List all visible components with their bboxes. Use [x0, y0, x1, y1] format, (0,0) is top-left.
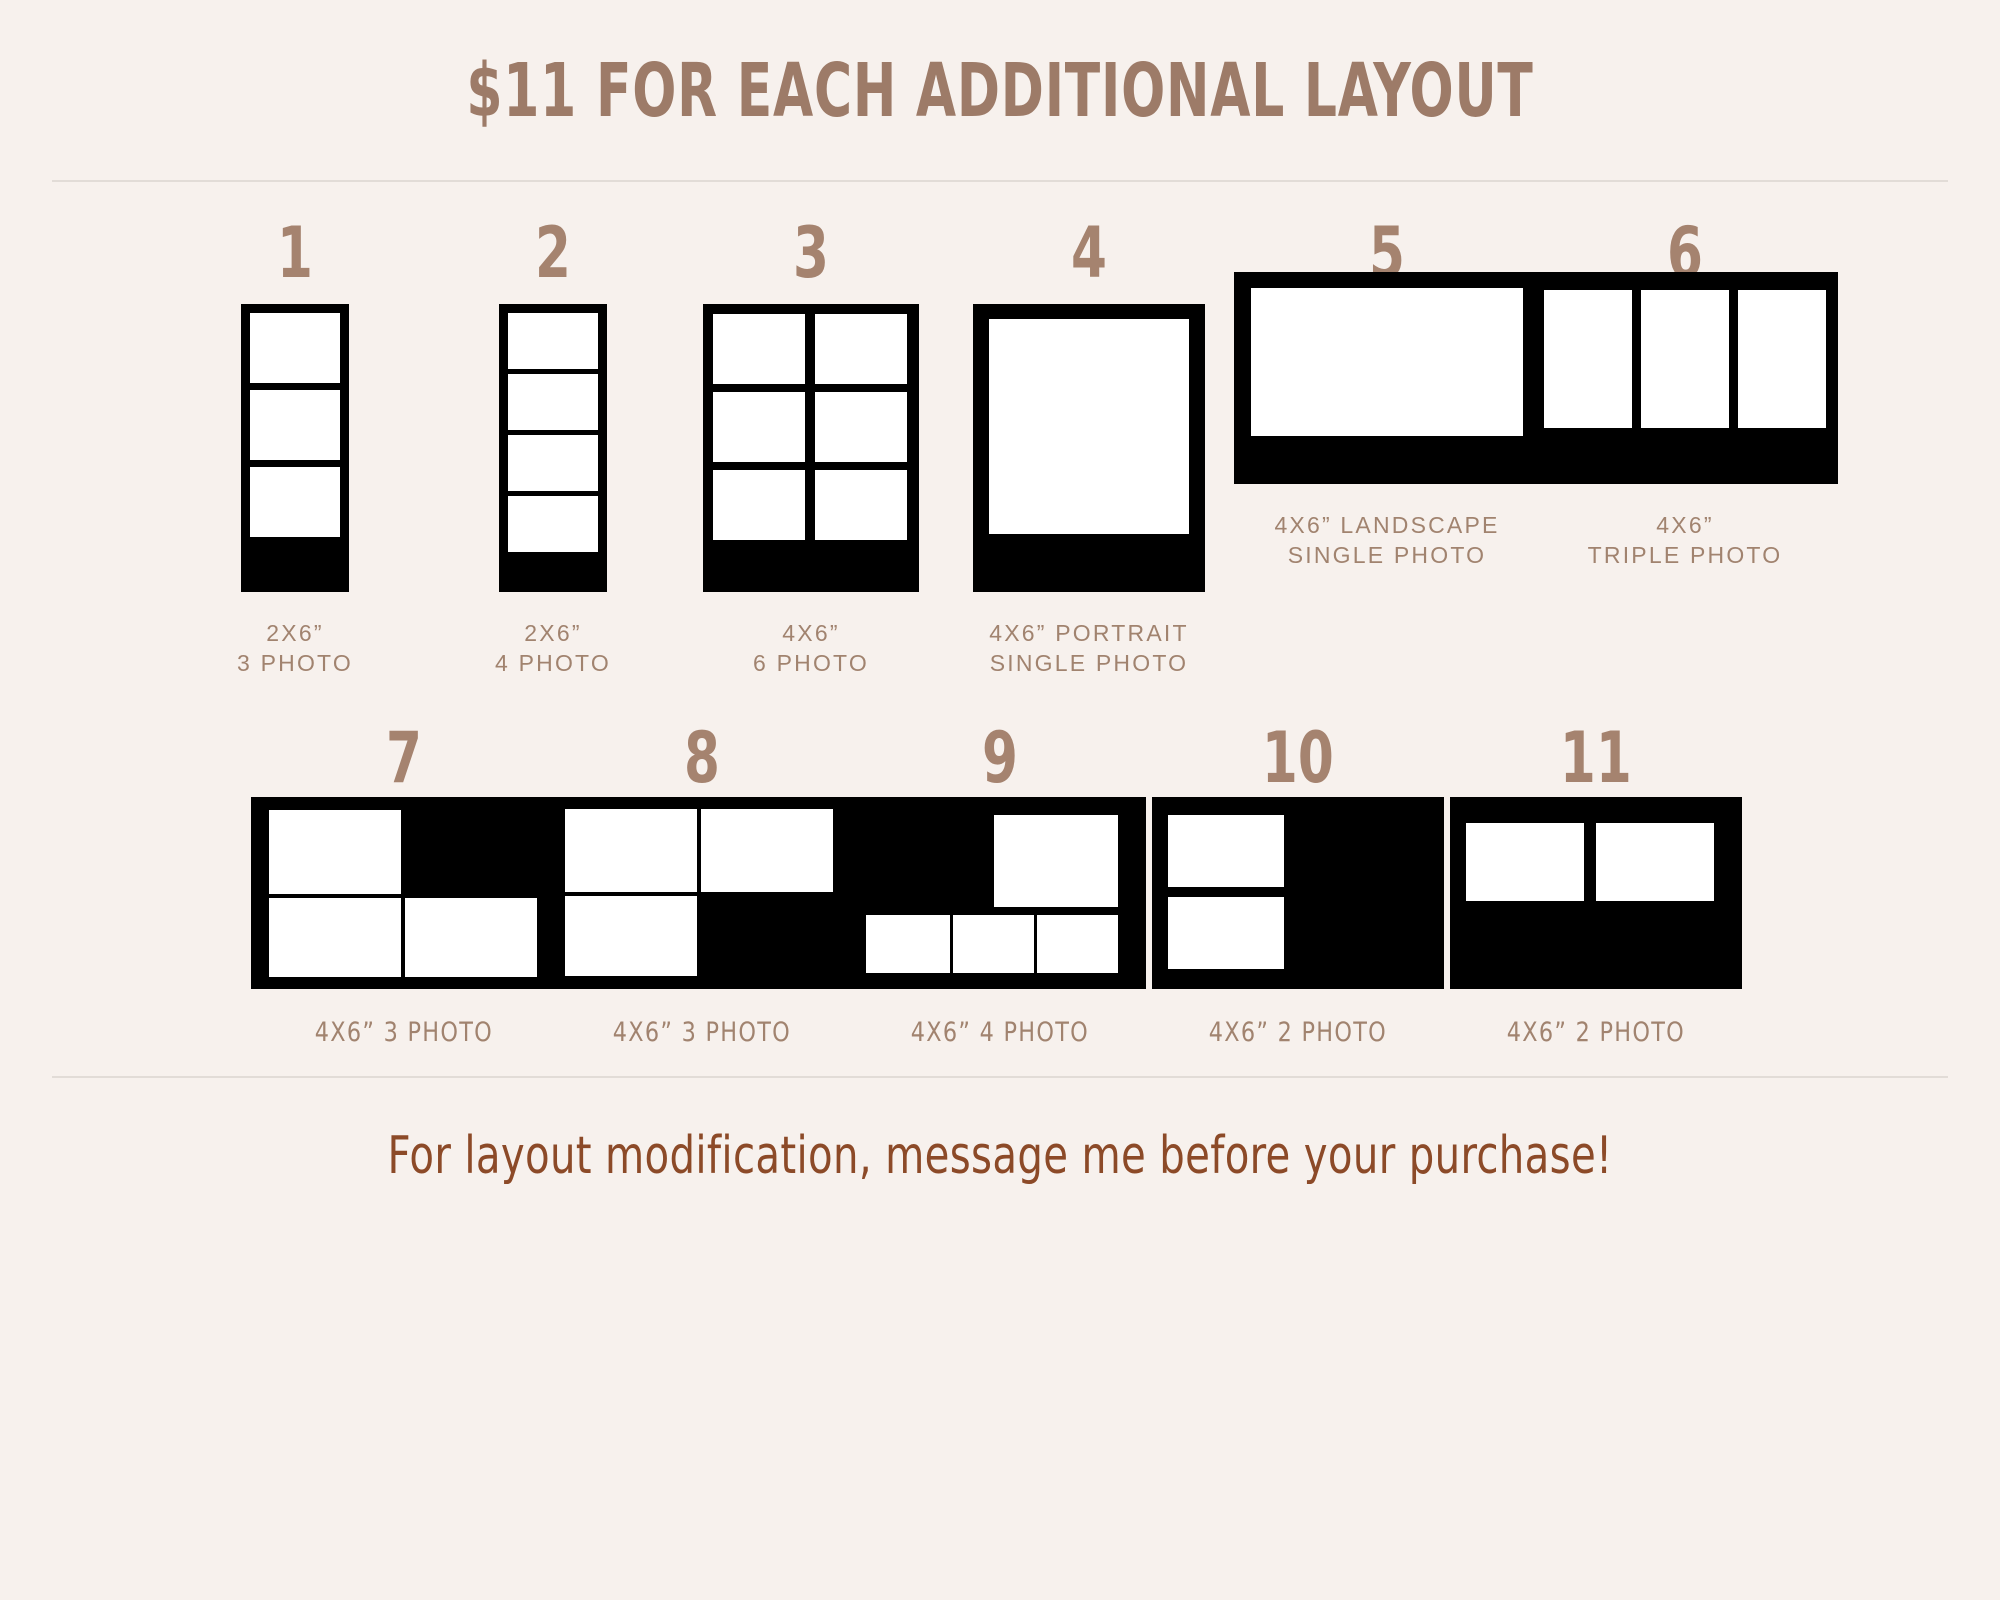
photo-slot	[815, 392, 907, 462]
layout-preview-9	[854, 809, 1146, 989]
layout-number-10: 10	[1262, 723, 1334, 793]
layout-number-4: 4	[1071, 218, 1107, 288]
photo-slot	[508, 374, 598, 430]
photo-slot	[1168, 815, 1284, 887]
page-title-wrap: $11 FOR EACH ADDITIONAL LAYOUT	[0, 0, 2000, 128]
divider-top	[52, 180, 1948, 182]
layout-preview-11	[1450, 809, 1742, 989]
photo-slot	[713, 470, 805, 540]
photo-slot	[1641, 290, 1729, 428]
layout-caption-2: 2X6” 4 PHOTO	[495, 618, 611, 679]
layout-option-5[interactable]: 5 4X6” LANDSCAPE SINGLE PHOTO	[1238, 218, 1536, 571]
layout-preview-7	[251, 809, 557, 989]
layout-pricing-sheet: $11 FOR EACH ADDITIONAL LAYOUT 1 2X6” 3 …	[0, 0, 2000, 1600]
photo-slot	[713, 314, 805, 384]
layout-caption-1: 2X6” 3 PHOTO	[237, 618, 353, 679]
layout-option-6[interactable]: 6 4X6” TRIPLE PHOTO	[1536, 218, 1834, 571]
layout-preview-3	[703, 304, 919, 592]
photo-slot	[994, 815, 1118, 907]
layout-option-7[interactable]: 7 4X6” 3 PHOTO	[255, 723, 553, 1051]
layout-modification-note: For layout modification, message me befo…	[140, 1126, 1860, 1186]
layout-preview-10	[1152, 809, 1444, 989]
layout-option-8[interactable]: 8 4X6” 3 PHOTO	[553, 723, 851, 1051]
photo-slot	[1738, 290, 1826, 428]
layout-preview-6	[1532, 304, 1838, 484]
photo-slot	[250, 313, 340, 383]
photo-slot	[565, 809, 697, 892]
layout-number-9: 9	[982, 723, 1018, 793]
photo-slot	[989, 319, 1189, 534]
layout-preview-8	[549, 809, 855, 989]
layout-preview-1	[241, 304, 349, 592]
layout-caption-8: 4X6” 3 PHOTO	[613, 1015, 791, 1051]
layout-number-1: 1	[277, 218, 313, 288]
layout-option-2[interactable]: 2 2X6” 4 PHOTO	[424, 218, 682, 679]
layout-option-10[interactable]: 10 4X6” 2 PHOTO	[1149, 723, 1447, 1051]
layout-preview-2	[499, 304, 607, 592]
layout-number-7: 7	[386, 723, 422, 793]
photo-slot	[405, 898, 537, 977]
photo-slot	[508, 435, 598, 491]
layout-number-3: 3	[793, 218, 829, 288]
photo-slot	[508, 313, 598, 369]
layout-option-11[interactable]: 11 4X6” 2 PHOTO	[1447, 723, 1745, 1051]
layout-caption-5: 4X6” LANDSCAPE SINGLE PHOTO	[1274, 510, 1499, 571]
photo-slot	[953, 915, 1034, 973]
photo-slot	[713, 392, 805, 462]
photo-slot	[250, 390, 340, 460]
photo-slot	[1037, 915, 1118, 973]
photo-slot	[250, 467, 340, 537]
layout-caption-6: 4X6” TRIPLE PHOTO	[1588, 510, 1783, 571]
layout-caption-10: 4X6” 2 PHOTO	[1209, 1015, 1387, 1051]
photo-slot	[701, 809, 833, 892]
photo-slot	[866, 915, 950, 973]
photo-slot	[1544, 290, 1632, 428]
layout-caption-11: 4X6” 2 PHOTO	[1507, 1015, 1685, 1051]
layout-option-9[interactable]: 9 4X6” 4 PHOTO	[851, 723, 1149, 1051]
divider-bottom	[52, 1076, 1948, 1078]
layout-caption-3: 4X6” 6 PHOTO	[753, 618, 869, 679]
photo-slot	[269, 810, 401, 894]
photo-slot	[508, 496, 598, 552]
page-title: $11 FOR EACH ADDITIONAL LAYOUT	[220, 54, 1780, 128]
photo-slot	[1251, 288, 1523, 436]
layout-caption-4: 4X6” PORTRAIT SINGLE PHOTO	[989, 618, 1188, 679]
photo-slot	[269, 898, 401, 977]
photo-slot	[1168, 897, 1284, 969]
photo-slot	[815, 314, 907, 384]
layout-caption-7: 4X6” 3 PHOTO	[315, 1015, 493, 1051]
photo-slot	[815, 470, 907, 540]
layout-number-8: 8	[684, 723, 720, 793]
photo-slot	[1466, 823, 1584, 901]
layout-row-2: 7 4X6” 3 PHOTO 8 4X6” 3 PHOTO	[0, 723, 2000, 1051]
photo-slot	[1596, 823, 1714, 901]
layout-row-1: 1 2X6” 3 PHOTO 2 2X6” 4 P	[0, 218, 2000, 679]
layout-number-2: 2	[535, 218, 571, 288]
layout-caption-9: 4X6” 4 PHOTO	[911, 1015, 1089, 1051]
layout-option-4[interactable]: 4 4X6” PORTRAIT SINGLE PHOTO	[940, 218, 1238, 679]
photo-slot	[565, 896, 697, 976]
layout-preview-5	[1234, 304, 1540, 484]
layout-number-11: 11	[1560, 723, 1632, 793]
layout-option-3[interactable]: 3 4X6” 6 PHOTO	[682, 218, 940, 679]
layout-option-1[interactable]: 1 2X6” 3 PHOTO	[166, 218, 424, 679]
layout-preview-4	[973, 304, 1205, 592]
